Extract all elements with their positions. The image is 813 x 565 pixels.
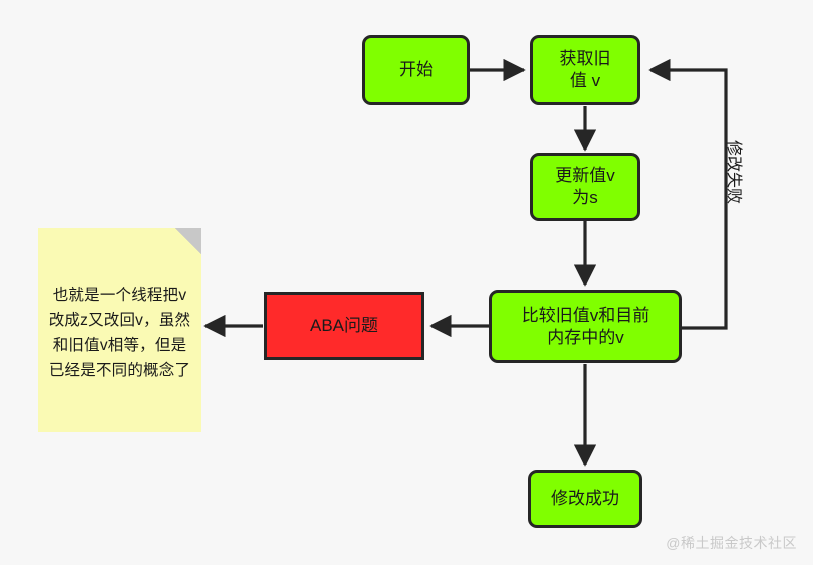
note-aba-explanation-text: 也就是一个线程把v改成z又改回v，虽然和旧值v相等，但是已经是不同的概念了 [38, 277, 201, 383]
diagram-canvas: 开始 获取旧 值 v 更新值v 为s 比较旧值v和目前 内存中的v 修改成功 A… [0, 0, 813, 565]
note-aba-explanation[interactable]: 也就是一个线程把v改成z又改回v，虽然和旧值v相等，但是已经是不同的概念了 [38, 228, 201, 432]
node-aba-problem-label: ABA问题 [304, 315, 384, 337]
watermark: @稀土掘金技术社区 [666, 533, 797, 553]
node-modify-success-label: 修改成功 [545, 488, 625, 510]
node-start-label: 开始 [393, 59, 439, 81]
node-get-old-value-label: 获取旧 值 v [554, 48, 617, 92]
node-update-value-label: 更新值v 为s [549, 165, 621, 209]
node-get-old-value[interactable]: 获取旧 值 v [530, 35, 640, 105]
node-update-value[interactable]: 更新值v 为s [530, 153, 640, 221]
node-compare-values[interactable]: 比较旧值v和目前 内存中的v [489, 290, 682, 363]
node-modify-success[interactable]: 修改成功 [528, 470, 642, 528]
edge-label-retry: 修改失败 [724, 140, 748, 204]
node-compare-values-label: 比较旧值v和目前 内存中的v [516, 305, 656, 349]
node-start[interactable]: 开始 [362, 35, 470, 105]
note-fold-icon [175, 228, 201, 254]
node-aba-problem[interactable]: ABA问题 [264, 292, 424, 360]
